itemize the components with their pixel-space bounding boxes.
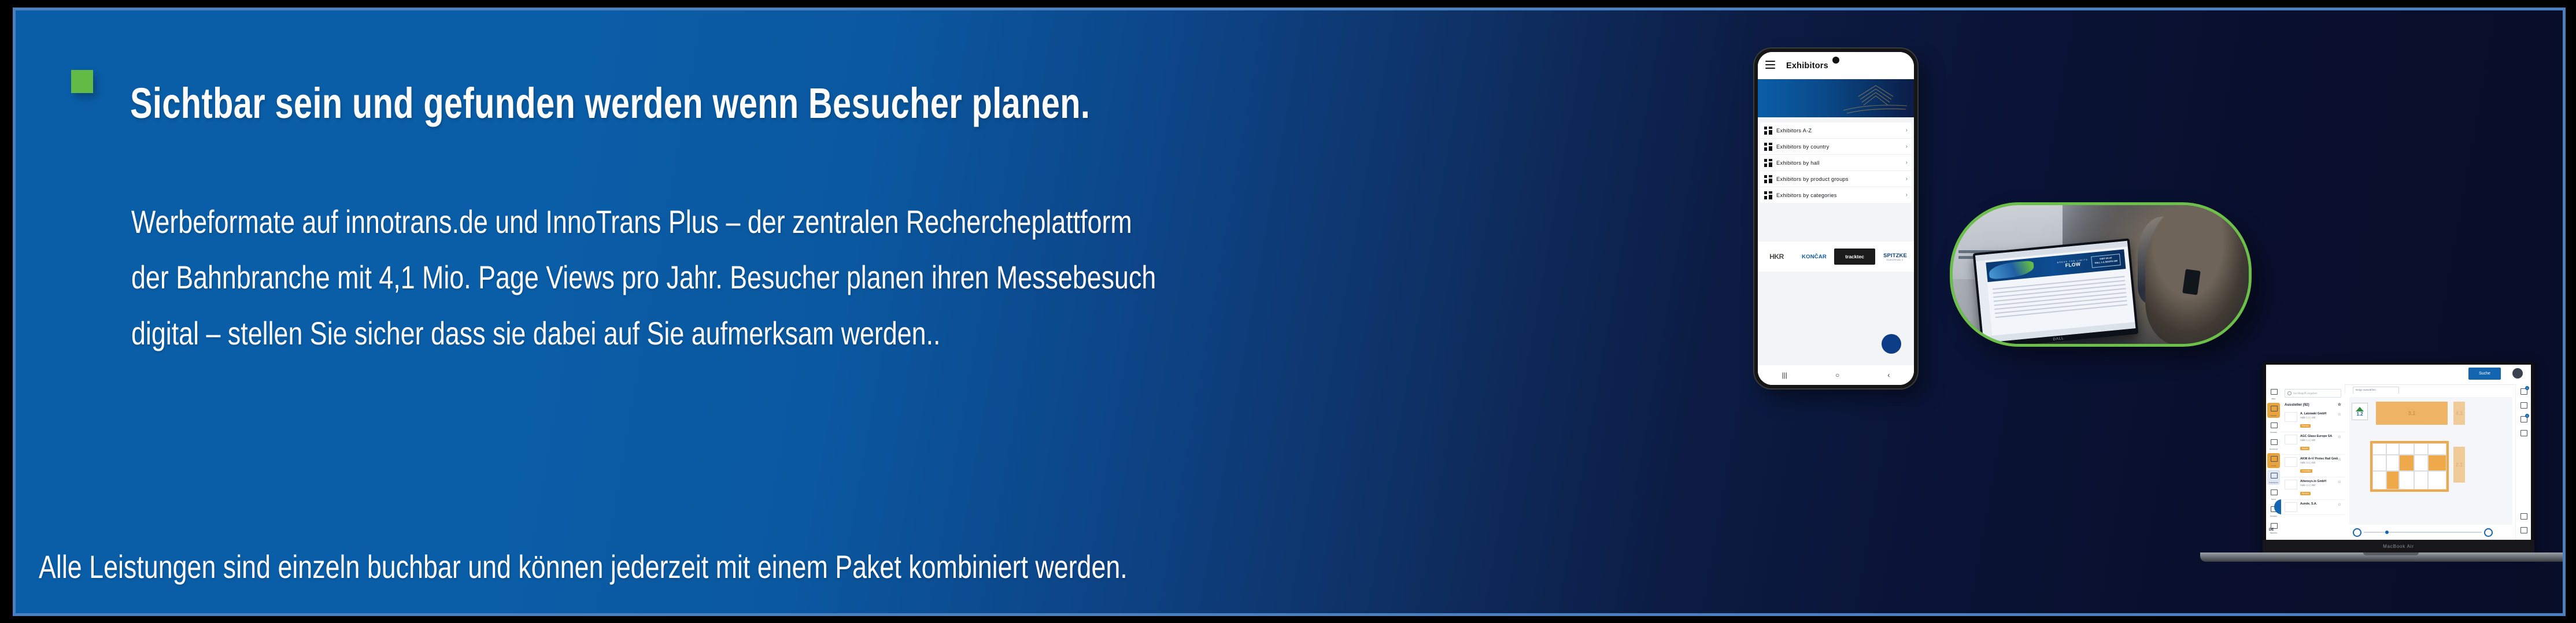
exhibitor-name: Aunde, S.A. bbox=[2300, 502, 2338, 506]
list-item[interactable]: Exhibitors by product groups › bbox=[1760, 171, 1912, 187]
search-input[interactable]: Suchbegriff eingeben bbox=[2285, 389, 2341, 398]
logo-koncar: KONČAR bbox=[1795, 254, 1833, 260]
favorite-star-icon[interactable]: ☆ bbox=[2338, 412, 2341, 429]
exhibitor-tag: Service bbox=[2300, 492, 2311, 495]
laptop-base bbox=[2200, 552, 2566, 562]
photo-ad-cta: VISIT US AT HALL 1.2, BOOTH 300 bbox=[2091, 254, 2121, 268]
exhibitor-logo bbox=[2285, 457, 2297, 467]
list-item[interactable]: Exhibitors by country › bbox=[1760, 139, 1912, 155]
grid-icon bbox=[1764, 159, 1772, 167]
zoom-out-icon[interactable] bbox=[2353, 528, 2361, 537]
body-line-1: Werbeformate auf innotrans.de und InnoTr… bbox=[131, 194, 1519, 250]
chat-icon[interactable] bbox=[2516, 398, 2531, 412]
grid-icon bbox=[1764, 175, 1772, 183]
grid-icon bbox=[1764, 127, 1772, 135]
back-icon[interactable]: ‹ bbox=[1887, 371, 1890, 379]
favorite-star-icon[interactable]: ☆ bbox=[2338, 402, 2341, 407]
site-header: Suche bbox=[2266, 365, 2531, 385]
filter-select-label: Belge auswählen bbox=[2356, 388, 2376, 391]
phone-system-nav: ||| ○ ‹ bbox=[1758, 365, 1914, 385]
photo-ad-artwork bbox=[1989, 260, 2035, 279]
favorite-star-icon[interactable]: ☆ bbox=[2338, 480, 2341, 497]
list-item-label: Exhibitors A-Z bbox=[1776, 128, 1812, 133]
laptop-screen: Suche Belge auswählen Maus Favoriten Aus… bbox=[2266, 365, 2531, 540]
logo-spitzke: SPITZKE EUROPEAN C bbox=[1876, 253, 1914, 261]
sidebar-item-termin[interactable]: Termin bbox=[2267, 487, 2280, 502]
logo-hkr: HKR bbox=[1758, 253, 1795, 261]
phone-menu-list: Exhibitors A-Z › Exhibitors by country ›… bbox=[1758, 117, 1914, 385]
trade-show-photo: BREAK THE LIMITS FLOW VISIT US AT HALL 1… bbox=[1950, 202, 2252, 347]
photo-laptop-brand: DΛLL bbox=[2053, 337, 2064, 342]
laptop-base-notch bbox=[2363, 552, 2419, 555]
photo-laptop-screen: BREAK THE LIMITS FLOW VISIT US AT HALL 1… bbox=[1975, 241, 2135, 343]
body-paragraph: Werbeformate auf innotrans.de und InnoTr… bbox=[131, 194, 1519, 361]
slide-frame: Sichtbar sein und gefunden werden wenn B… bbox=[13, 8, 2566, 616]
hall-block-3-1[interactable]: 3.1 bbox=[2376, 402, 2448, 425]
list-item-label: Exhibitors by hall bbox=[1776, 160, 1820, 166]
laptop-lid: Suche Belge auswählen Maus Favoriten Aus… bbox=[2263, 362, 2534, 552]
exhibitor-hall: Halle 1.1 | 600 bbox=[2300, 439, 2338, 442]
barcode-icon[interactable] bbox=[2516, 509, 2531, 523]
chevron-right-icon: › bbox=[1906, 176, 1908, 182]
table-row[interactable]: AGC Glass Europe SA Halle 1.1 | 600 Adve… bbox=[2281, 432, 2345, 455]
body-line-3: digital – stellen Sie sicher dass sie da… bbox=[131, 306, 1519, 361]
page-title: Sichtbar sein und gefunden werden wenn B… bbox=[130, 79, 1090, 128]
slide-root: Sichtbar sein und gefunden werden wenn B… bbox=[0, 0, 2576, 623]
table-row[interactable]: AKW A+V Protec Rail GmbH Halle 3.1 | 620… bbox=[2281, 455, 2345, 477]
bell-icon[interactable] bbox=[2516, 426, 2531, 440]
avatar[interactable] bbox=[2512, 368, 2523, 379]
exhibitor-tag: Hersteller bbox=[2300, 469, 2312, 473]
list-heading: Aussteller (92) bbox=[2285, 403, 2309, 407]
exhibitor-name: AKW A+V Protec Rail GmbH bbox=[2300, 457, 2338, 461]
home-icon[interactable]: ○ bbox=[1835, 371, 1839, 379]
footnote-text: Alle Leistungen sind einzeln buchbar und… bbox=[39, 548, 1519, 585]
table-row[interactable]: Attensys.io GmbH Halle 2.1 | 850 Service… bbox=[2281, 477, 2345, 500]
sidebar-item-tagesplan[interactable]: Tagesplan bbox=[2267, 520, 2280, 535]
chevron-right-icon: › bbox=[1906, 143, 1908, 150]
hall-map-canvas[interactable]: 1.2 3.1 4.1 2.1 bbox=[2349, 397, 2512, 525]
table-row[interactable]: A. Latzwaki GmbH Halle 1.1 | 440 Partner… bbox=[2281, 410, 2345, 432]
exhibitor-logo bbox=[2285, 412, 2297, 422]
phone-camera-icon bbox=[1832, 57, 1839, 64]
innotrans-mark-icon bbox=[2356, 407, 2364, 411]
photo-ad-flow: FLOW bbox=[2065, 261, 2080, 269]
list-item-label: Exhibitors by country bbox=[1776, 144, 1830, 150]
chevron-right-icon: › bbox=[1906, 127, 1908, 133]
phone-app-title: Exhibitors bbox=[1786, 61, 1828, 71]
laptop-brand-label: MacBook Air bbox=[2383, 544, 2414, 549]
innotrans-logo-icon bbox=[1842, 80, 1912, 116]
zoom-track[interactable] bbox=[2364, 532, 2482, 533]
phone-screen: Exhibitors Exhibit bbox=[1758, 52, 1914, 385]
map-zoom-slider[interactable] bbox=[2353, 528, 2493, 536]
calendar-badge: 0 bbox=[2525, 414, 2529, 418]
exhibitor-hall: Halle 3.1 | 620 bbox=[2300, 461, 2338, 464]
hall-label: 1.2 bbox=[2356, 411, 2363, 417]
grid-icon bbox=[1764, 191, 1772, 199]
sidebar-item-vernetzung[interactable]: Vernetzung bbox=[2267, 436, 2280, 451]
search-button[interactable]: Suche bbox=[2468, 368, 2501, 380]
sidebar-nav: Maus Favoriten Aussteller Vernetzung 2.4… bbox=[2266, 384, 2282, 540]
phone-mockup: Exhibitors Exhibit bbox=[1754, 49, 1917, 388]
exhibitor-list-panel: Suchbegriff eingeben Aussteller (92) ☆ A… bbox=[2281, 384, 2345, 540]
exhibitor-name: AGC Glass Europe SA bbox=[2300, 435, 2338, 438]
list-item-label: Exhibitors by product groups bbox=[1776, 176, 1849, 182]
sidebar-item-gelaendeplan[interactable]: Geländeplan bbox=[2267, 470, 2280, 485]
recents-icon[interactable]: ||| bbox=[1782, 371, 1787, 379]
favorite-star-icon[interactable]: ☆ bbox=[2338, 502, 2341, 512]
photo-page-content bbox=[1993, 276, 2128, 321]
zoom-in-icon[interactable] bbox=[2484, 528, 2493, 537]
favorite-star-icon[interactable]: ☆ bbox=[2338, 457, 2341, 474]
phone-hero-banner bbox=[1758, 79, 1914, 117]
logo-spitzke-label: SPITZKE bbox=[1883, 253, 1907, 259]
logo-tracktec: tracktec bbox=[1834, 249, 1875, 265]
phone-sponsor-logos: HKR KONČAR tracktec SPITZKE EUROPEAN C bbox=[1758, 242, 1914, 272]
logo-spitzke-sub: EUROPEAN C bbox=[1876, 259, 1914, 261]
favorite-star-icon[interactable]: ☆ bbox=[2338, 435, 2341, 452]
hamburger-menu-icon[interactable] bbox=[1765, 61, 1775, 71]
chevron-right-icon: › bbox=[1906, 160, 1908, 166]
sidebar-item-aussteller[interactable]: Aussteller bbox=[2267, 420, 2280, 435]
photo-ad-headline: BREAK THE LIMITS FLOW bbox=[2057, 259, 2089, 269]
hall-block-2-1[interactable]: 2.1 bbox=[2453, 447, 2465, 483]
language-switch[interactable]: DE bbox=[2269, 528, 2274, 532]
list-item[interactable]: Exhibitors A-Z › bbox=[1760, 123, 1912, 139]
list-item[interactable]: Exhibitors by hall › bbox=[1760, 155, 1912, 171]
exhibitor-tag: Partner bbox=[2300, 424, 2311, 428]
profile-icon[interactable]: 0 bbox=[2516, 384, 2531, 398]
hall-stand-grid[interactable] bbox=[2370, 441, 2449, 492]
sidebar-item-maus[interactable]: Maus bbox=[2267, 386, 2280, 401]
green-bullet-square bbox=[71, 70, 93, 93]
photo-laptop: BREAK THE LIMITS FLOW VISIT US AT HALL 1… bbox=[1973, 238, 2139, 347]
calendar-icon[interactable]: 0 bbox=[2516, 412, 2531, 426]
floating-action-button[interactable] bbox=[1882, 334, 1901, 354]
search-icon bbox=[2287, 391, 2292, 395]
laptop-mockup: Suche Belge auswählen Maus Favoriten Aus… bbox=[2200, 362, 2566, 586]
exhibitor-tag: Advert bbox=[2300, 447, 2309, 450]
grid-icon bbox=[1764, 143, 1772, 151]
hall-map[interactable]: 1.2 3.1 4.1 2.1 bbox=[2345, 394, 2516, 540]
exhibitor-logo bbox=[2285, 435, 2297, 444]
mobile-icon[interactable] bbox=[2516, 523, 2531, 537]
list-heading-row: Aussteller (92) ☆ bbox=[2281, 401, 2345, 410]
laptop-chin: MacBook Air bbox=[2263, 540, 2534, 552]
chevron-right-icon: › bbox=[1906, 192, 1908, 198]
exhibitor-name: A. Latzwaki GmbH bbox=[2300, 412, 2338, 416]
exhibitor-logo bbox=[2285, 502, 2297, 512]
exhibitor-hall: Halle 1.1 | 440 bbox=[2300, 416, 2338, 419]
list-item[interactable]: Exhibitors by categories › bbox=[1760, 187, 1912, 203]
utility-rail: 0 0 bbox=[2515, 384, 2531, 540]
search-input-placeholder: Suchbegriff eingeben bbox=[2293, 392, 2317, 395]
exhibitor-hall: Halle 2.1 | 850 bbox=[2300, 484, 2338, 487]
phone-menu-card: Exhibitors A-Z › Exhibitors by country ›… bbox=[1760, 123, 1912, 203]
hall-block-4-1[interactable]: 4.1 bbox=[2453, 402, 2465, 425]
exhibitor-logo bbox=[2285, 480, 2297, 489]
hall-marker-1-2[interactable]: 1.2 bbox=[2352, 403, 2368, 420]
table-row[interactable]: Aunde, S.A. ☆ bbox=[2281, 500, 2345, 515]
exhibitor-name: Attensys.io GmbH bbox=[2300, 480, 2338, 483]
profile-badge: 0 bbox=[2525, 386, 2529, 390]
sidebar-item-uhr[interactable]: 2.4 Uhr bbox=[2267, 453, 2280, 468]
list-item-label: Exhibitors by categories bbox=[1776, 192, 1837, 198]
body-line-2: der Bahnbranche mit 4,1 Mio. Page Views … bbox=[131, 250, 1519, 305]
sidebar-item-favoriten[interactable]: Favoriten bbox=[2267, 403, 2280, 418]
